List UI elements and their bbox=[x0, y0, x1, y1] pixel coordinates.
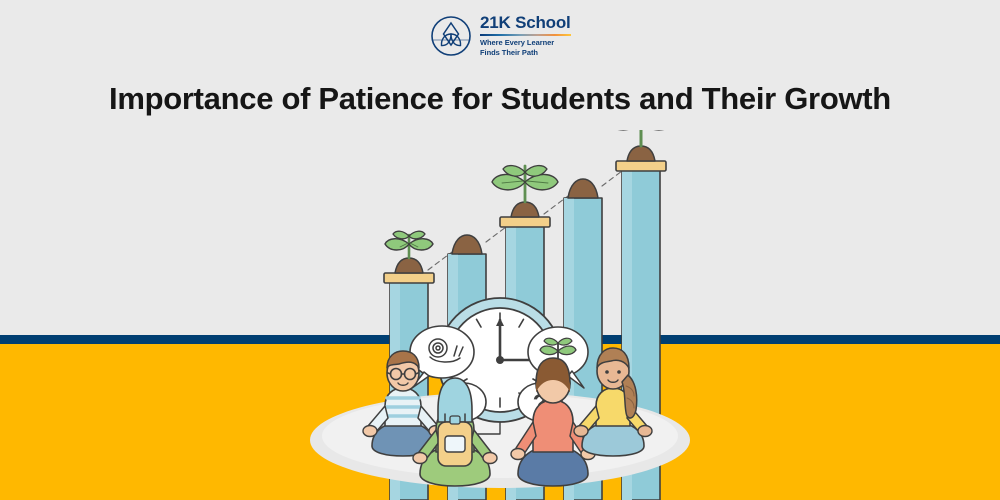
patience-growth-illustration: ? ? bbox=[300, 130, 700, 500]
brand-tagline: Where Every Learner Finds Their Path bbox=[480, 38, 571, 57]
sprout-plant-3 bbox=[492, 166, 558, 202]
banner-root: 21K School Where Every Learner Finds The… bbox=[0, 0, 1000, 500]
backpack-icon bbox=[438, 414, 472, 466]
brand-logo[interactable]: 21K School Where Every Learner Finds The… bbox=[430, 12, 580, 60]
page-title: Importance of Patience for Students and … bbox=[0, 81, 1000, 117]
lotus-circle-logo-icon bbox=[430, 15, 472, 57]
brand-name: 21K School bbox=[480, 14, 571, 32]
seedling-plant-1 bbox=[385, 231, 433, 258]
tagline-line-2: Finds Their Path bbox=[480, 48, 538, 57]
flower-plant-5 bbox=[606, 130, 676, 146]
brand-gradient-rule bbox=[480, 34, 571, 37]
tagline-line-1: Where Every Learner bbox=[480, 38, 554, 47]
